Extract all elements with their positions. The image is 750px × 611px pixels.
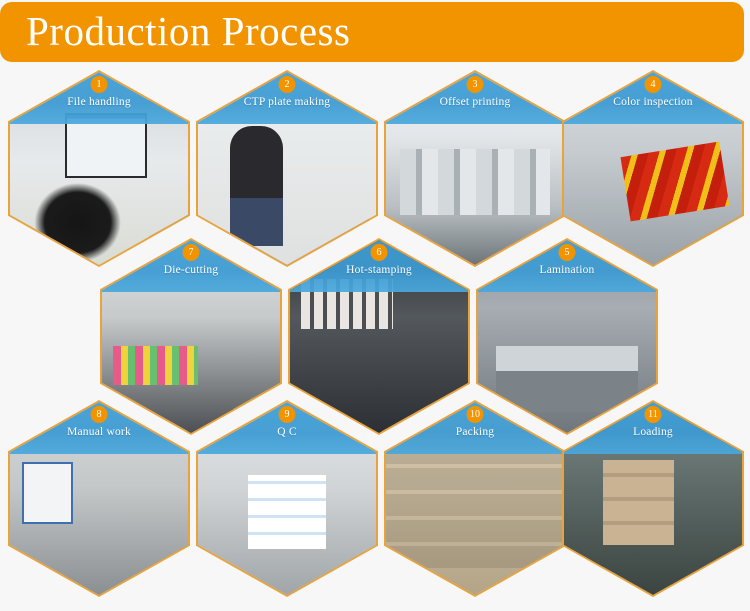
step-number-badge: 6	[371, 244, 388, 261]
step-label: Offset printing	[384, 95, 566, 109]
step-number-badge: 3	[467, 76, 484, 93]
process-step-cell-11[interactable]: 11 Loading	[562, 400, 744, 597]
step-number-badge: 9	[279, 406, 296, 423]
step-label: Loading	[562, 425, 744, 439]
hex-grid: 1 File handling 2 CTP plate making 3 Off	[0, 0, 750, 611]
step-number-badge: 2	[279, 76, 296, 93]
process-step-cell-10[interactable]: 10 Packing	[384, 400, 566, 597]
step-number-badge: 7	[183, 244, 200, 261]
step-number-badge: 10	[467, 406, 484, 423]
step-label: Hot-stamping	[288, 263, 470, 277]
step-label: File handling	[8, 95, 190, 109]
step-number-badge: 1	[91, 76, 108, 93]
step-label: Die-cutting	[100, 263, 282, 277]
step-label: Lamination	[476, 263, 658, 277]
step-number-badge: 4	[645, 76, 662, 93]
step-label: CTP plate making	[196, 95, 378, 109]
step-label: Color inspection	[562, 95, 744, 109]
step-number-badge: 11	[645, 406, 662, 423]
step-number-badge: 5	[559, 244, 576, 261]
step-label: Manual work	[8, 425, 190, 439]
step-label: Packing	[384, 425, 566, 439]
step-number-badge: 8	[91, 406, 108, 423]
production-process-infographic: Production Process 1 File handling 2	[0, 0, 750, 611]
step-label: Q C	[196, 425, 378, 439]
process-step-cell-8[interactable]: 8 Manual work	[8, 400, 190, 597]
process-step-cell-9[interactable]: 9 Q C	[196, 400, 378, 597]
